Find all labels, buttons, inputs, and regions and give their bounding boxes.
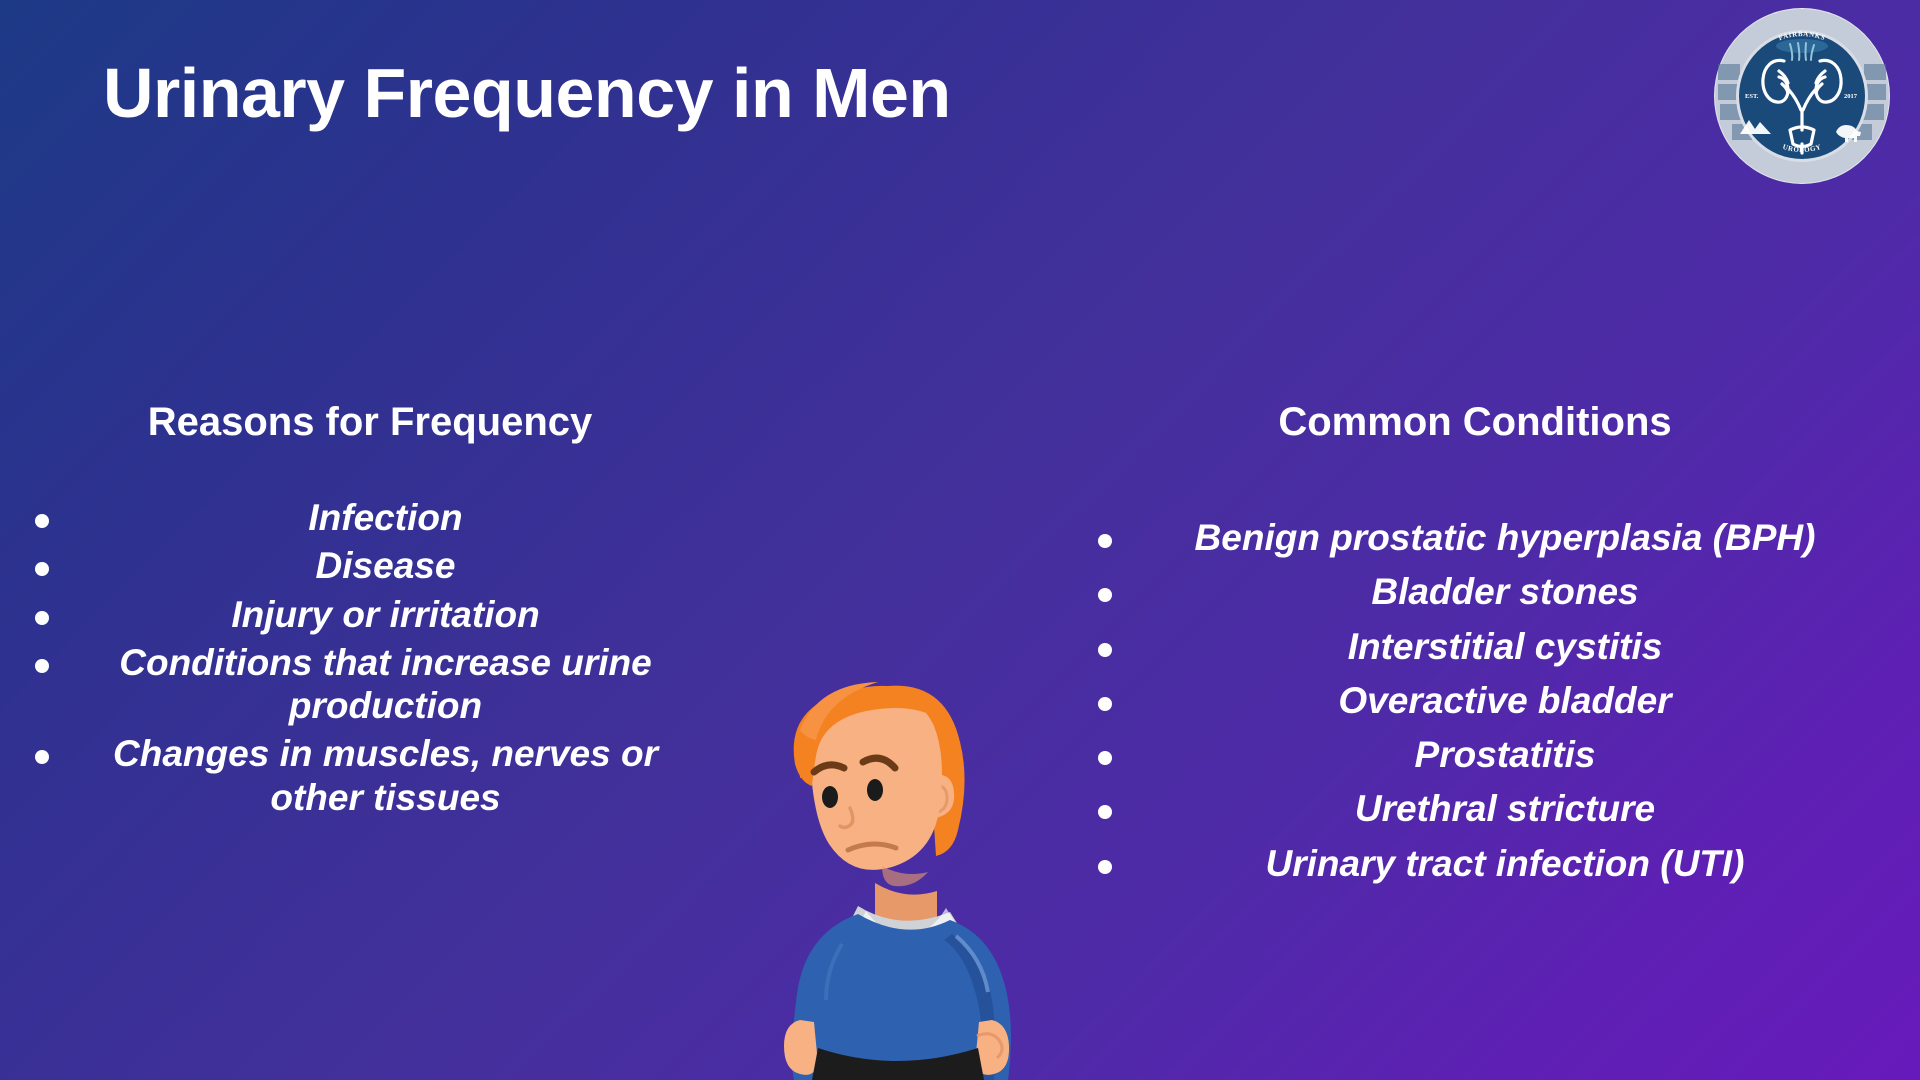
list-item-label: Injury or irritation [71,593,700,636]
conditions-list: Benign prostatic hyperplasia (BPH) Bladd… [1030,516,1920,885]
bullet-dot-icon [35,659,49,673]
bullet-dot-icon [1098,534,1112,548]
conditions-heading: Common Conditions [1030,400,1920,444]
fairbanks-urology-logo: FAIRBANKS UROLOGY EST. 2017 [1712,6,1892,186]
reasons-list: Infection Disease Injury or irritation C… [0,496,740,819]
list-item-label: Changes in muscles, nerves or other tiss… [71,732,700,819]
reasons-heading: Reasons for Frequency [0,400,740,444]
list-item: Conditions that increase urine productio… [35,641,700,728]
list-item-label: Interstitial cystitis [1138,625,1872,668]
bullet-dot-icon [35,514,49,528]
bullet-dot-icon [1098,588,1112,602]
list-item-label: Conditions that increase urine productio… [71,641,700,728]
bullet-dot-icon [1098,697,1112,711]
logo-est-text: EST. [1745,93,1759,100]
list-item: Prostatitis [1098,733,1872,776]
list-item: Disease [35,544,700,587]
list-item: Urethral stricture [1098,787,1872,830]
page-title: Urinary Frequency in Men [103,58,951,128]
list-item: Overactive bladder [1098,679,1872,722]
list-item-label: Prostatitis [1138,733,1872,776]
list-item-label: Urinary tract infection (UTI) [1138,842,1872,885]
list-item-label: Benign prostatic hyperplasia (BPH) [1138,516,1872,559]
conditions-column: Common Conditions Benign prostatic hyper… [1030,400,1920,896]
worried-man-illustration [770,668,1032,1080]
list-item: Interstitial cystitis [1098,625,1872,668]
bullet-dot-icon [35,562,49,576]
list-item: Bladder stones [1098,570,1872,613]
bullet-dot-icon [1098,860,1112,874]
list-item-label: Disease [71,544,700,587]
list-item: Urinary tract infection (UTI) [1098,842,1872,885]
list-item: Changes in muscles, nerves or other tiss… [35,732,700,819]
list-item-label: Infection [71,496,700,539]
list-item-label: Overactive bladder [1138,679,1872,722]
list-item-label: Bladder stones [1138,570,1872,613]
list-item: Infection [35,496,700,539]
bullet-dot-icon [1098,805,1112,819]
slide-canvas: Urinary Frequency in Men [0,0,1920,1080]
list-item: Injury or irritation [35,593,700,636]
reasons-column: Reasons for Frequency Infection Disease … [0,400,740,824]
logo-year-text: 2017 [1844,93,1858,100]
list-item-label: Urethral stricture [1138,787,1872,830]
bullet-dot-icon [35,611,49,625]
bullet-dot-icon [1098,751,1112,765]
bullet-dot-icon [1098,643,1112,657]
list-item: Benign prostatic hyperplasia (BPH) [1098,516,1872,559]
bullet-dot-icon [35,750,49,764]
